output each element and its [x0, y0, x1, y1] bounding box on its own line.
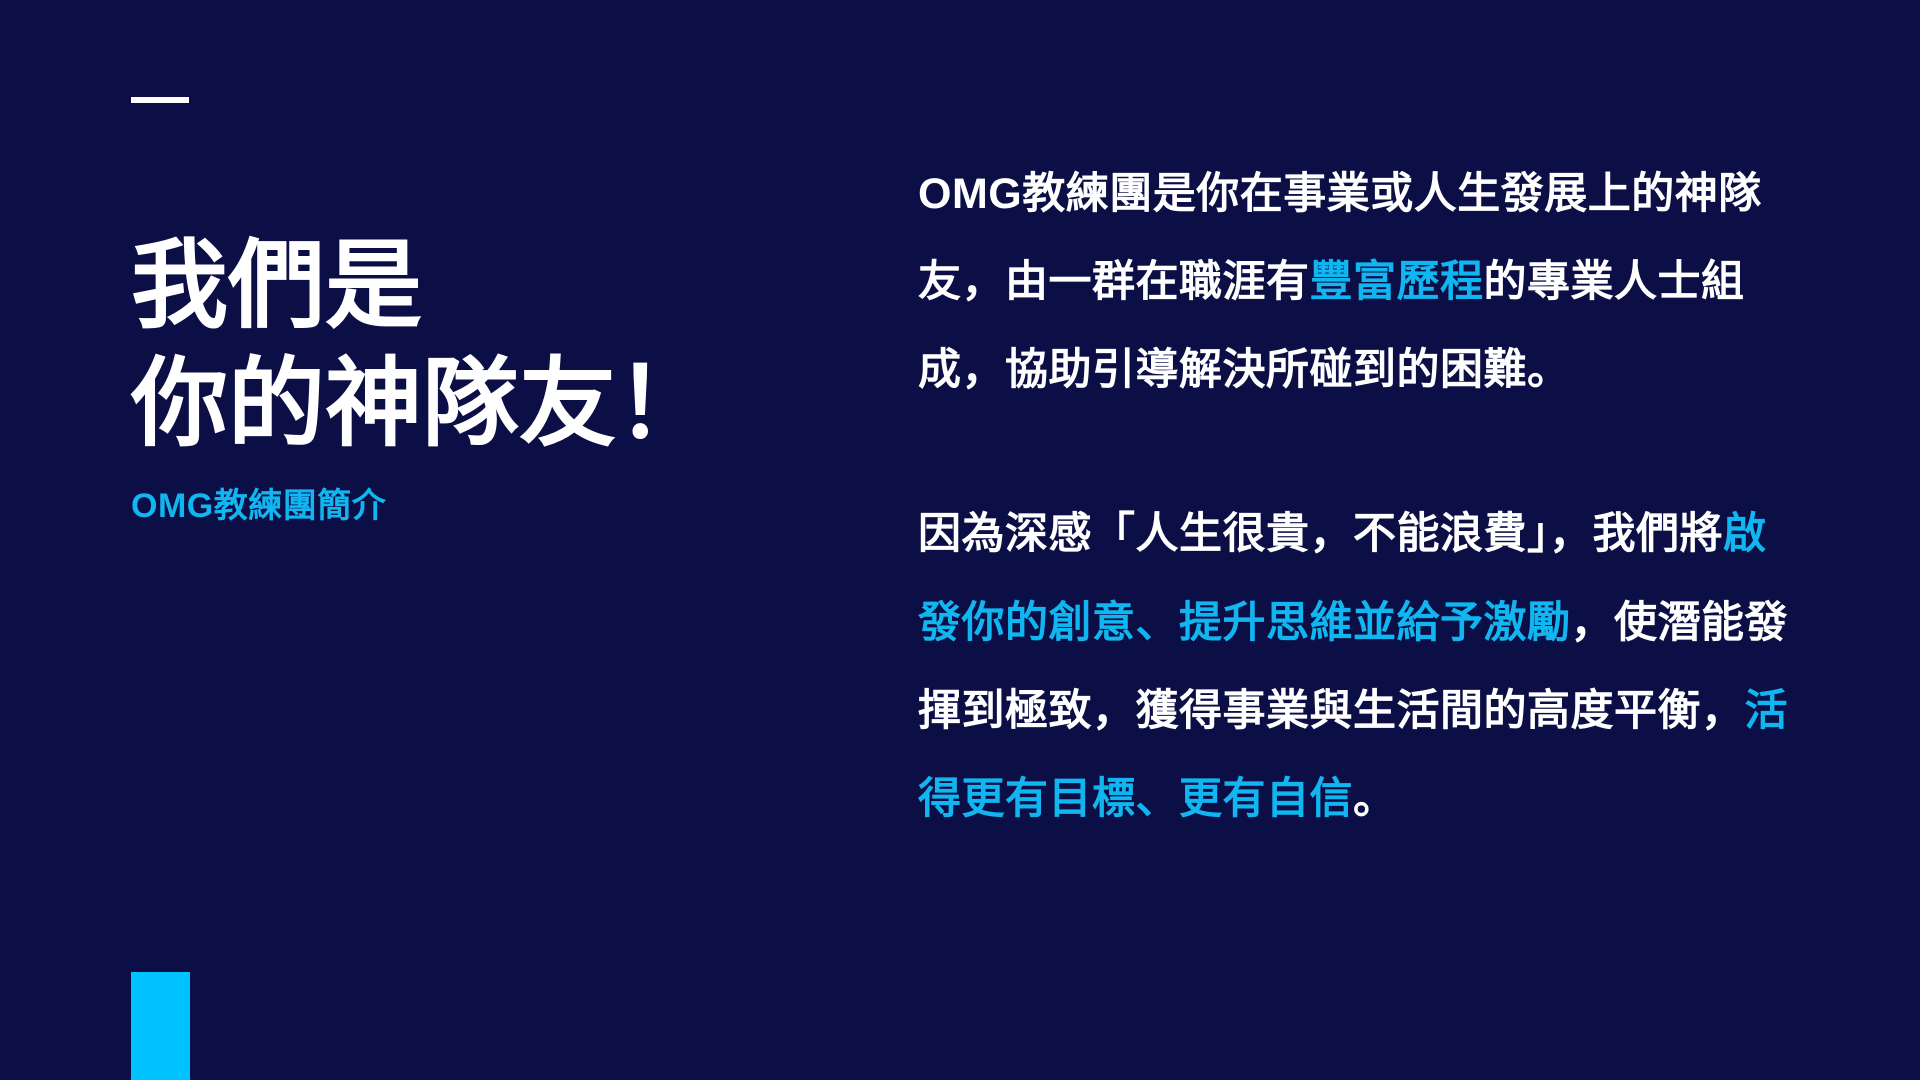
accent-block-decoration	[131, 972, 190, 1080]
paragraph-1-segment-2: 豐富歷程	[1310, 258, 1484, 306]
page-subtitle: OMG教練團簡介	[131, 478, 386, 527]
body-copy-column: OMG教練團是你在事業或人生發展上的神隊友，由一群在職涯有豐富歷程的專業人士組成…	[918, 150, 1788, 843]
slide-root: 我們是 你的神隊友！ OMG教練團簡介 OMG教練團是你在事業或人生發展上的神隊…	[0, 0, 1920, 1080]
paragraph-2-segment-5: 。	[1353, 775, 1397, 823]
paragraph-1: OMG教練團是你在事業或人生發展上的神隊友，由一群在職涯有豐富歷程的專業人士組成…	[918, 150, 1788, 414]
paragraph-2-segment-1: 因為深感「人生很貴，不能浪費」，我們將	[918, 510, 1723, 558]
dash-rule-icon	[131, 97, 189, 103]
headline-line-1: 我們是	[131, 227, 891, 345]
page-title: 我們是 你的神隊友！	[131, 227, 891, 464]
paragraph-2: 因為深感「人生很貴，不能浪費」，我們將啟發你的創意、提升思維並給予激勵，使潛能發…	[918, 490, 1788, 843]
headline-line-2: 你的神隊友！	[131, 345, 891, 463]
left-column: 我們是 你的神隊友！ OMG教練團簡介	[131, 0, 891, 1080]
